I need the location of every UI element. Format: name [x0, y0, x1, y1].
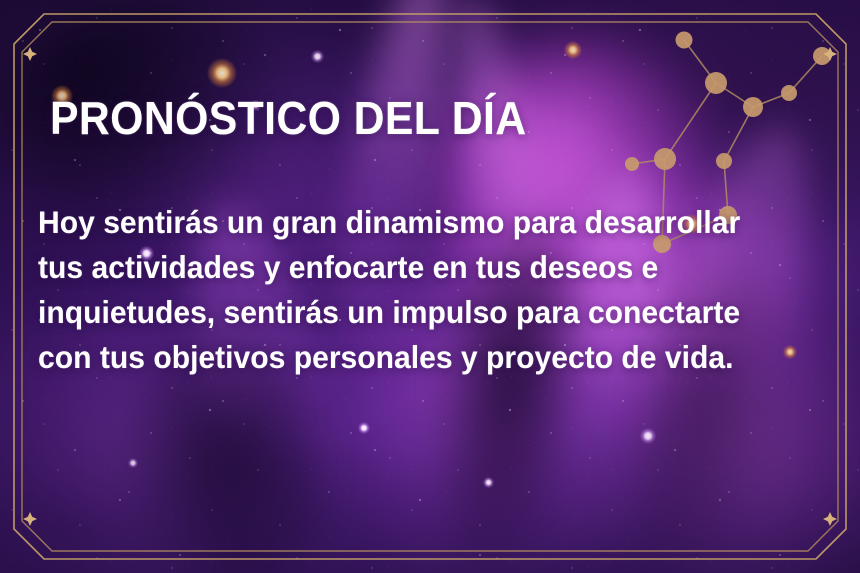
forecast-line: Hoy sentirás un gran dinamismo para desa… [38, 200, 802, 245]
page-title: PRONÓSTICO DEL DÍA [50, 94, 527, 142]
card-content: PRONÓSTICO DEL DÍA Hoy sentirás un gran … [0, 0, 860, 573]
forecast-body: Hoy sentirás un gran dinamismo para desa… [38, 200, 802, 380]
forecast-line: inquietudes, sentirás un impulso para co… [38, 290, 802, 335]
horoscope-card: PRONÓSTICO DEL DÍA Hoy sentirás un gran … [0, 0, 860, 573]
forecast-line: tus actividades y enfocarte en tus deseo… [38, 245, 802, 290]
forecast-line: con tus objetivos personales y proyecto … [38, 335, 802, 380]
